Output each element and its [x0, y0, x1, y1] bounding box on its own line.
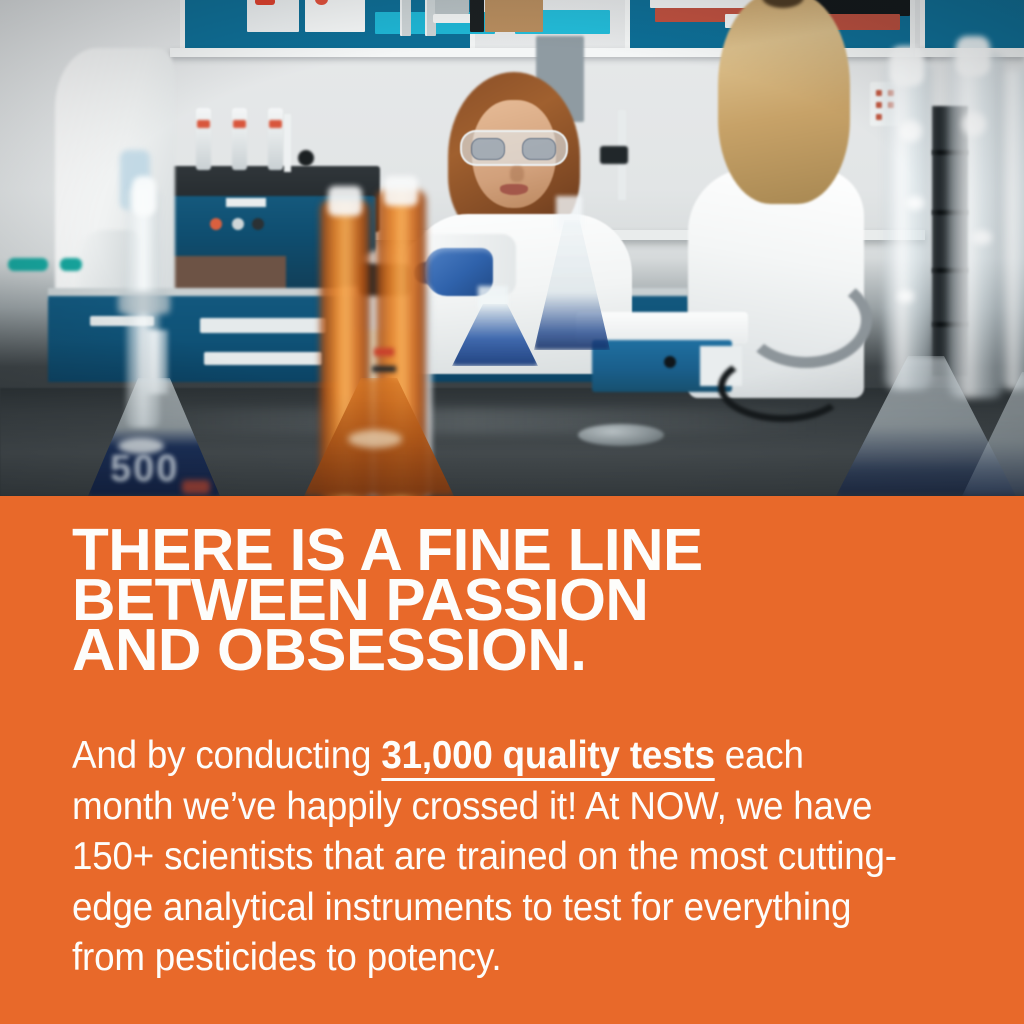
bokeh-highlight	[972, 230, 992, 245]
balance-button	[664, 356, 676, 368]
burette-top	[132, 176, 156, 216]
teal-cap	[8, 258, 48, 271]
amber-column-cap	[328, 186, 362, 216]
cabinet-dark-gap	[470, 0, 484, 32]
lab-stand	[284, 114, 291, 172]
cabinet-tube	[400, 0, 411, 36]
outlet-dot	[876, 90, 882, 96]
test-tube	[196, 108, 211, 170]
equipment-cable	[718, 352, 848, 422]
test-tube	[268, 108, 283, 170]
glass-column	[1000, 70, 1024, 390]
burette-clamp	[118, 292, 170, 314]
bottle-label-mark	[374, 348, 394, 356]
petri-dish	[578, 424, 664, 446]
glass-column	[948, 52, 1004, 398]
headline-line-3: AND OBSESSION.	[72, 625, 990, 675]
cabinet-box	[305, 0, 365, 32]
body-copy: And by conducting 31,000 quality tests e…	[72, 731, 912, 984]
tube-cap	[233, 120, 246, 128]
bokeh-highlight	[898, 290, 914, 303]
glass-column-cap	[890, 46, 924, 86]
amber-column-cap	[384, 176, 418, 206]
tube-cap	[197, 120, 210, 128]
test-tube	[232, 108, 247, 170]
face-mouth	[500, 184, 528, 195]
outlet-dot	[876, 114, 882, 120]
instrument-button	[210, 218, 222, 230]
amber-flask-highlight	[348, 430, 402, 448]
safety-goggles	[460, 130, 568, 166]
social-media-card: 500 THERE IS A F	[0, 0, 1024, 1024]
cabinet-tray	[433, 14, 475, 23]
scientist-right-hair	[718, 0, 850, 204]
stand-clamp	[298, 150, 314, 166]
bokeh-highlight	[962, 112, 986, 136]
outlet-dot	[876, 102, 882, 108]
goggle-lens	[522, 138, 556, 160]
quality-tests-emphasis: 31,000 quality tests	[381, 734, 714, 781]
bokeh-highlight	[906, 196, 924, 210]
instrument-button	[232, 218, 244, 230]
volumetric-flask-500ml: 500	[88, 330, 220, 496]
glass-column-cap	[956, 36, 990, 76]
lab-photo: 500	[0, 0, 1024, 496]
bottle-label-text	[372, 366, 396, 372]
face-nose	[510, 166, 524, 182]
tube-cap	[269, 120, 282, 128]
cardboard-box	[485, 0, 543, 32]
instrument-screen	[168, 256, 286, 292]
page-title: THERE IS A FINE LINE BETWEEN PASSION AND…	[72, 525, 990, 675]
teal-cap	[60, 258, 82, 271]
cabinet-label	[255, 0, 275, 5]
body-text-part-1: And by conducting	[72, 734, 381, 777]
bokeh-highlight	[900, 120, 922, 142]
flask-red-mark	[182, 480, 210, 494]
glass-column	[884, 60, 932, 390]
instrument-label	[226, 198, 266, 207]
upper-cabinet-left	[180, 0, 475, 50]
bench-reflection	[120, 408, 820, 434]
goggle-lens	[471, 138, 505, 160]
instrument-button	[252, 218, 264, 230]
orange-text-panel: THERE IS A FINE LINE BETWEEN PASSION AND…	[0, 496, 1024, 1024]
faucet-handle	[600, 146, 628, 164]
cabinet-drawer	[204, 352, 322, 365]
